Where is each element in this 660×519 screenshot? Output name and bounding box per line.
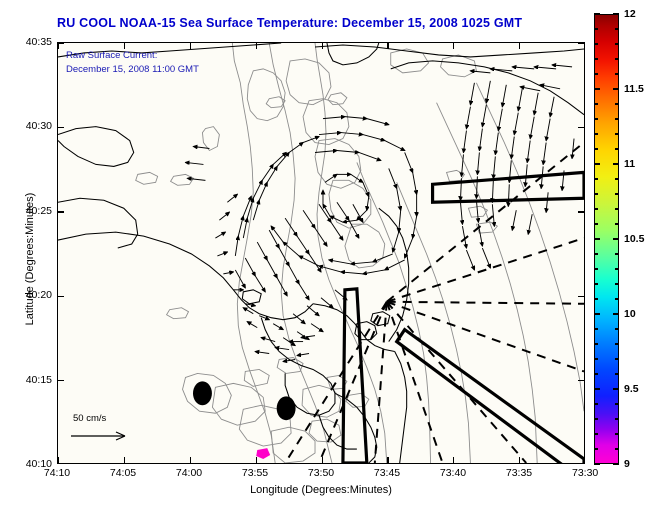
colorbar-tick [594,163,600,164]
colorbar-tick [594,268,598,269]
x-axis-tick [453,457,454,463]
colorbar-tick [594,328,598,329]
colorbar-tick [594,448,598,449]
colorbar-tick [594,238,600,239]
colorbar-tick [613,88,619,89]
colorbar-tick [594,133,598,134]
xtick-2: 74:00 [176,467,202,479]
colorbar-tick [594,193,598,194]
station-markers [193,381,296,420]
colorbar-tick [613,163,619,164]
y-axis-tick [578,43,584,44]
xtick-8: 73:30 [572,467,598,479]
colorbar-tick [594,88,600,89]
y-axis-tick [578,380,584,381]
colorbar-tick [594,28,598,29]
colorbar-tick [615,223,619,224]
colorbar-tick-label: 12 [624,8,636,20]
colorbar-tick-label: 11 [624,158,635,170]
colorbar-tick [594,253,598,254]
colorbar-tick [594,148,598,149]
colorbar-tick-label: 10.5 [624,233,644,245]
colorbar-tick [615,448,619,449]
ytick-0: 40:35 [8,36,52,48]
colorbar-tick [615,343,619,344]
y-axis-tick [58,296,64,297]
colorbar-tick-label: 9 [624,458,630,470]
x-axis-tick [322,457,323,463]
x-axis-tick [387,43,388,49]
colorbar-tick [594,13,600,14]
colorbar-tick [615,298,619,299]
colorbar-tick [615,268,619,269]
xtick-1: 74:05 [110,467,136,479]
colorbar-tick [613,313,619,314]
colorbar-tick [594,343,598,344]
y-axis-tick [578,211,584,212]
y-axis-tick [58,380,64,381]
y-axis-tick [578,127,584,128]
x-axis-tick [190,457,191,463]
colorbar-tick [615,118,619,119]
ytick-5: 40:10 [8,458,52,470]
xtick-7: 73:35 [506,467,532,479]
colorbar-tick [594,58,598,59]
colorbar-tick [594,73,598,74]
ytick-4: 40:15 [8,374,52,386]
ytick-1: 40:30 [8,120,52,132]
colorbar-tick [615,193,619,194]
colorbar-tick [594,403,598,404]
colorbar-tick [594,358,598,359]
xtick-4: 73:50 [308,467,334,479]
y-axis-tick [58,43,64,44]
colorbar-tick [615,418,619,419]
y-axis-label: Latitude (Degrees:Minutes) [24,169,36,349]
colorbar-tick [615,373,619,374]
sst-map-figure: RU COOL NOAA-15 Sea Surface Temperature:… [0,0,660,519]
map-canvas [58,43,584,463]
colorbar-tick [615,133,619,134]
colorbar-tick [594,118,598,119]
colorbar-tick [594,43,598,44]
colorbar-tick [594,373,598,374]
colorbar-tick [615,208,619,209]
colorbar-tick [613,463,619,464]
colorbar-tick [615,28,619,29]
colorbar-tick [615,43,619,44]
figure-title: RU COOL NOAA-15 Sea Surface Temperature:… [57,16,597,30]
colorbar-tick [594,283,598,284]
x-axis-tick [453,43,454,49]
colorbar-tick [594,313,600,314]
colorbar-tick [615,403,619,404]
colorbar-tick [615,58,619,59]
colorbar-tick [615,328,619,329]
colorbar-tick [615,148,619,149]
map-plot-area[interactable]: Raw Surface Current: December 15, 2008 1… [57,42,585,464]
colorbar-tick [594,433,598,434]
x-axis-tick [256,43,257,49]
colorbar-tick [594,103,598,104]
colorbar-tick [594,208,598,209]
x-axis-tick [519,457,520,463]
colorbar-tick [594,223,598,224]
x-axis-tick [190,43,191,49]
y-axis-tick [58,127,64,128]
colorbar-tick [615,178,619,179]
x-axis-tick [519,43,520,49]
colorbar-tick [615,283,619,284]
sst-patch [256,448,270,459]
xtick-5: 73:45 [374,467,400,479]
colorbar-tick [594,178,598,179]
xtick-6: 73:40 [440,467,466,479]
colorbar-tick [613,388,619,389]
colorbar-tick [615,433,619,434]
x-axis-tick [256,457,257,463]
colorbar-tick [594,418,598,419]
x-axis-label: Longitude (Degrees:Minutes) [57,484,585,496]
colorbar-tick [615,103,619,104]
colorbar-tick [594,388,600,389]
x-axis-tick [322,43,323,49]
y-axis-tick [58,211,64,212]
colorbar-tick-label: 10 [624,308,636,320]
xtick-3: 73:55 [242,467,268,479]
colorbar-tick [615,358,619,359]
colorbar-tick [613,238,619,239]
x-axis-tick [124,43,125,49]
colorbar-tick [594,463,600,464]
colorbar-tick [613,13,619,14]
y-axis-tick [578,296,584,297]
x-axis-tick [124,457,125,463]
colorbar-tick [594,298,598,299]
colorbar-tick [615,73,619,74]
colorbar-tick-label: 11.5 [624,83,644,95]
colorbar-tick-label: 9.5 [624,383,639,395]
colorbar-tick [615,253,619,254]
x-axis-tick [387,457,388,463]
x-axis-tick [58,457,59,463]
